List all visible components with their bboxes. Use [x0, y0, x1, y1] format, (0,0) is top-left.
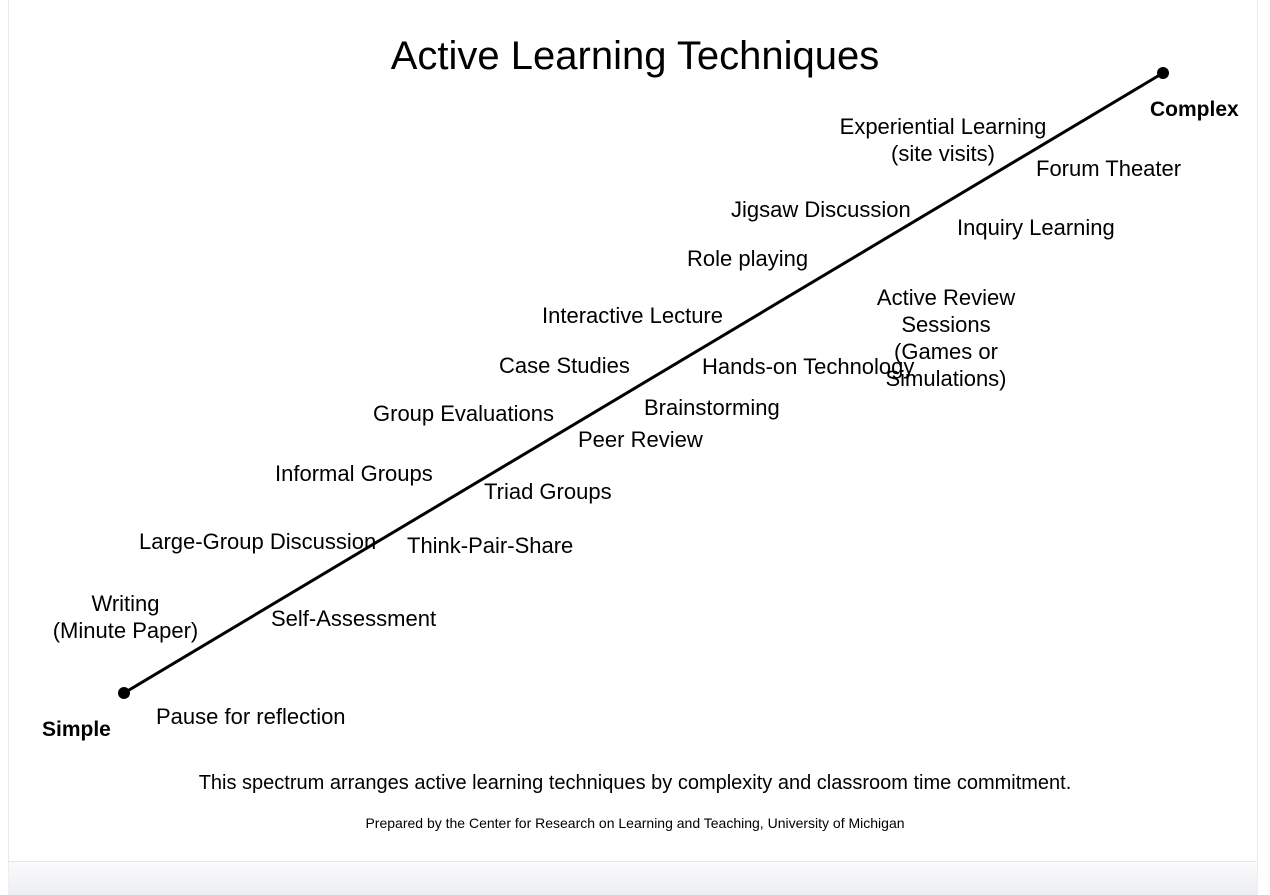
technique-label: Case Studies: [499, 352, 628, 379]
slide-bottom-shadow: [8, 862, 1258, 895]
technique-label: Jigsaw Discussion: [731, 196, 905, 223]
caption-text: This spectrum arranges active learning t…: [0, 770, 1270, 796]
technique-label: Pause for reflection: [156, 703, 341, 730]
slide-canvas: Active Learning Techniques Simple Comple…: [0, 0, 1270, 895]
technique-label: Brainstorming: [644, 394, 777, 421]
technique-label-line: Inquiry Learning: [957, 214, 1109, 241]
technique-label-line: Self-Assessment: [271, 605, 433, 632]
technique-label: Large-Group Discussion: [139, 528, 370, 555]
technique-label-line: Writing: [48, 590, 203, 617]
technique-label-line: Experiential Learning: [838, 113, 1048, 140]
technique-label-line: Group Evaluations: [373, 400, 548, 427]
technique-label: Forum Theater: [1036, 155, 1178, 182]
technique-label: Self-Assessment: [271, 605, 433, 632]
technique-label-line: Jigsaw Discussion: [731, 196, 905, 223]
technique-label: Role playing: [687, 245, 804, 272]
technique-label: Peer Review: [578, 426, 699, 453]
axis-anchor-complex: Complex: [1150, 98, 1239, 122]
technique-label-line: Brainstorming: [644, 394, 777, 421]
axis-anchor-simple: Simple: [42, 718, 111, 742]
technique-label-line: Pause for reflection: [156, 703, 341, 730]
technique-label-line: Think-Pair-Share: [407, 532, 569, 559]
page-title: Active Learning Techniques: [0, 33, 1270, 79]
technique-label: Hands-on Technology: [702, 353, 910, 380]
technique-label: Experiential Learning(site visits): [838, 113, 1048, 167]
technique-label-line: Peer Review: [578, 426, 699, 453]
technique-label: Inquiry Learning: [957, 214, 1109, 241]
technique-label-line: (site visits): [838, 140, 1048, 167]
technique-label-line: Case Studies: [499, 352, 628, 379]
technique-label-line: Large-Group Discussion: [139, 528, 370, 555]
technique-label: Triad Groups: [484, 478, 611, 505]
technique-label-line: (Minute Paper): [48, 617, 203, 644]
technique-label: Writing(Minute Paper): [48, 590, 203, 644]
technique-label-line: Triad Groups: [484, 478, 611, 505]
technique-label-line: Informal Groups: [275, 460, 429, 487]
technique-label-line: Hands-on Technology: [702, 353, 910, 380]
technique-label-line: Role playing: [687, 245, 804, 272]
technique-label-line: Forum Theater: [1036, 155, 1178, 182]
technique-label: Interactive Lecture: [542, 302, 719, 329]
technique-label: Informal Groups: [275, 460, 429, 487]
technique-label-line: Active Review Sessions: [832, 284, 1060, 338]
credit-text: Prepared by the Center for Research on L…: [0, 814, 1270, 833]
technique-label: Group Evaluations: [373, 400, 548, 427]
technique-label: Think-Pair-Share: [407, 532, 569, 559]
technique-label-line: Interactive Lecture: [542, 302, 719, 329]
